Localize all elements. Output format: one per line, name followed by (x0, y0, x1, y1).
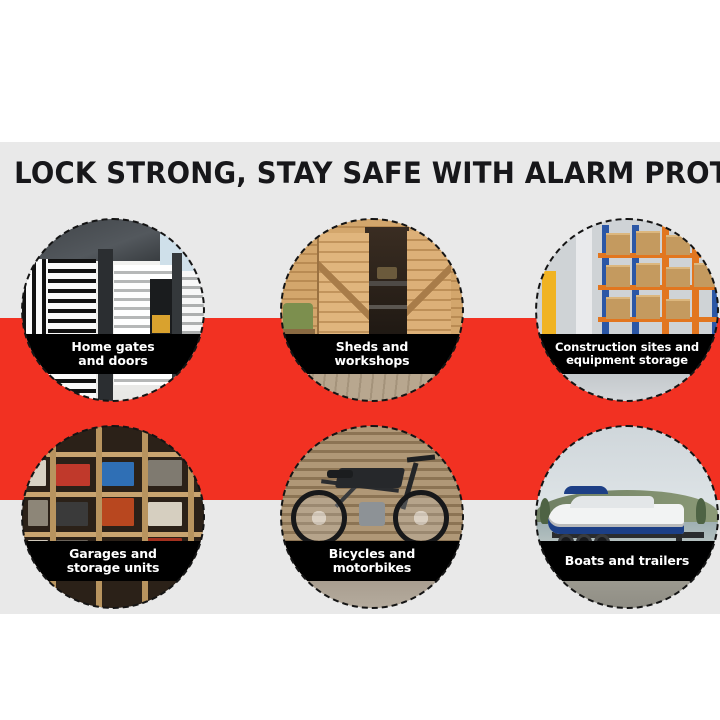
circle-frame: Garages and storage units (22, 426, 204, 608)
card-label: Boats and trailers (536, 541, 718, 581)
circle-frame: Construction sites and equipment storage (536, 219, 718, 401)
card-label: Sheds and workshops (281, 334, 463, 374)
category-card-home-gates[interactable]: Home gates and doors (22, 219, 204, 401)
category-card-boats[interactable]: Boats and trailers (536, 426, 718, 608)
card-label: Bicycles and motorbikes (281, 541, 463, 581)
circle-frame: Bicycles and motorbikes (281, 426, 463, 608)
category-grid: Home gates and doors (0, 0, 720, 720)
category-card-garages[interactable]: Garages and storage units (22, 426, 204, 608)
card-label: Garages and storage units (22, 541, 204, 581)
circle-frame: Sheds and workshops (281, 219, 463, 401)
category-card-bicycles[interactable]: Bicycles and motorbikes (281, 426, 463, 608)
promo-graphic: LOCK STRONG, STAY SAFE WITH ALARM PROTEC… (0, 0, 720, 720)
circle-frame: Home gates and doors (22, 219, 204, 401)
category-card-construction[interactable]: Construction sites and equipment storage (536, 219, 718, 401)
card-label: Construction sites and equipment storage (536, 334, 718, 374)
category-card-sheds[interactable]: Sheds and workshops (281, 219, 463, 401)
circle-frame: Boats and trailers (536, 426, 718, 608)
card-label: Home gates and doors (22, 334, 204, 374)
